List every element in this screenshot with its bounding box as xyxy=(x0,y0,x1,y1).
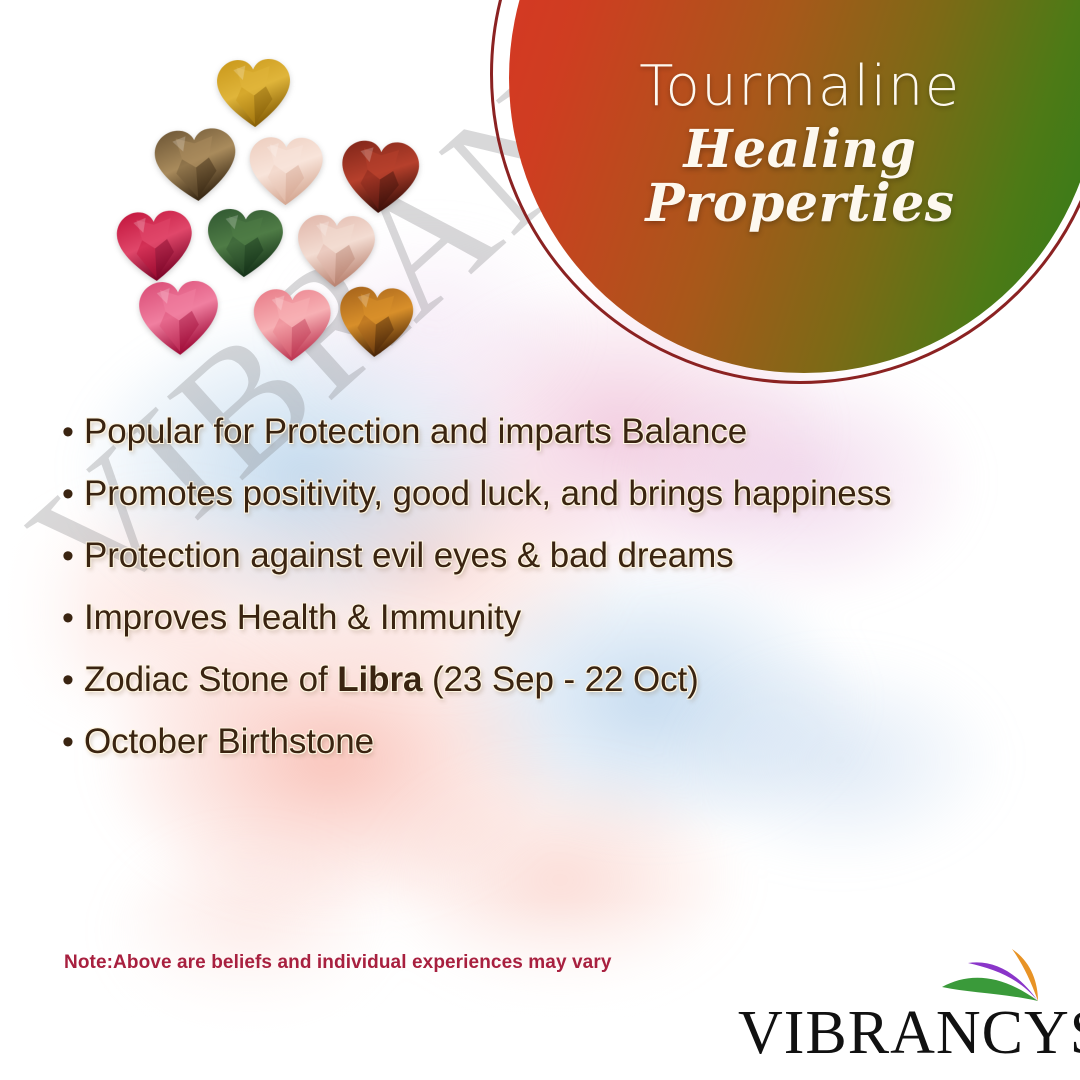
list-item-label: October Birthstone xyxy=(84,718,962,766)
brand-wordmark: VIBRANCYS xyxy=(738,1005,1058,1062)
gem-golden-heart xyxy=(215,57,293,132)
list-item-label: Improves Health & Immunity xyxy=(84,594,962,642)
bullet-dot-icon: • xyxy=(62,532,84,580)
list-item-label: Zodiac Stone of Libra (23 Sep - 22 Oct) xyxy=(84,656,962,704)
gem-crimson-heart xyxy=(114,208,196,286)
brand-logo: VIBRANCYS xyxy=(738,947,1058,1062)
bullet-dot-icon: • xyxy=(62,408,84,456)
gem-amber-brown-heart xyxy=(336,284,416,362)
properties-list: •Popular for Protection and imparts Bala… xyxy=(62,408,962,780)
gem-hot-pink-heart xyxy=(137,279,222,360)
list-item-label-pre: Zodiac Stone of xyxy=(84,660,337,699)
disclaimer-note: Note:Above are beliefs and individual ex… xyxy=(64,952,612,974)
gem-smoky-brown-heart xyxy=(151,125,240,207)
gem-dark-red-heart xyxy=(338,138,422,218)
bullet-dot-icon: • xyxy=(62,470,84,518)
list-item-label-post: (23 Sep - 22 Oct) xyxy=(422,660,698,699)
list-item: •October Birthstone xyxy=(62,718,962,766)
gem-green-heart xyxy=(205,207,285,282)
gem-coral-pink-heart xyxy=(251,287,332,364)
list-item: •Popular for Protection and imparts Bala… xyxy=(62,408,962,456)
header-gradient-circle xyxy=(509,0,1080,373)
list-item: •Promotes positivity, good luck, and bri… xyxy=(62,470,962,518)
bullet-dot-icon: • xyxy=(62,594,84,642)
list-item: •Improves Health & Immunity xyxy=(62,594,962,642)
list-item-label: Popular for Protection and imparts Balan… xyxy=(84,408,962,456)
list-item-label-emphasis: Libra xyxy=(337,660,422,699)
list-item: •Protection against evil eyes & bad drea… xyxy=(62,532,962,580)
gemstone-cluster xyxy=(108,58,438,368)
bullet-dot-icon: • xyxy=(62,656,84,704)
list-item: •Zodiac Stone of Libra (23 Sep - 22 Oct) xyxy=(62,656,962,704)
list-item-label: Protection against evil eyes & bad dream… xyxy=(84,532,962,580)
bullet-dot-icon: • xyxy=(62,718,84,766)
gem-peach-heart xyxy=(247,135,324,208)
list-item-label: Promotes positivity, good luck, and brin… xyxy=(84,470,962,518)
poster-canvas: VIBRANCYS Tourmaline Healing Properties … xyxy=(0,0,1080,1080)
gem-rose-quartz-heart xyxy=(295,213,378,292)
